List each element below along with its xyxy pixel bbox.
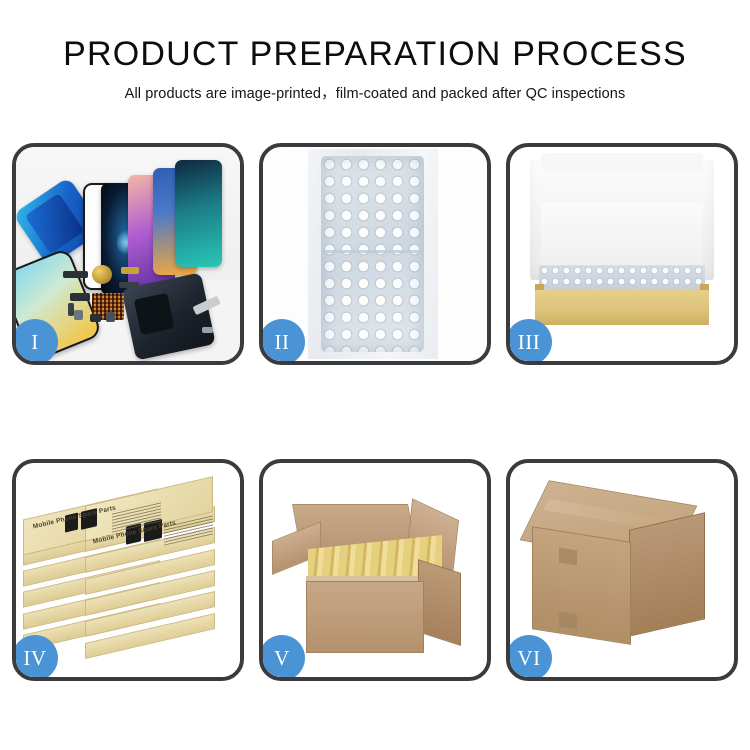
carton-seam-mark-bottom-icon (559, 611, 577, 629)
step-badge-3: III (506, 319, 552, 365)
step-badge-2: II (259, 319, 305, 365)
step-badge-5: V (259, 635, 305, 681)
step-badge-6: VI (506, 635, 552, 681)
bag-seam-icon (321, 250, 424, 253)
camera-module-icon (90, 314, 101, 323)
step-panel-1[interactable]: I (12, 143, 244, 365)
step-panel-4[interactable]: Mobile Phone Spare Parts Mobile Phone Sp… (12, 459, 244, 681)
mailer-front-panel-icon (535, 290, 710, 324)
carton-seam-mark-top-icon (559, 547, 577, 565)
page-subtitle: All products are image-printed，film-coat… (0, 85, 750, 103)
steps-grid: I II (12, 143, 738, 683)
screw-set-icon (202, 327, 213, 333)
bracket-part-icon (70, 293, 90, 302)
button-part-icon (68, 303, 75, 316)
step-panel-6[interactable]: VI (506, 459, 738, 681)
product-preparation-process-page: PRODUCT PREPARATION PROCESS All products… (0, 0, 750, 750)
header: PRODUCT PREPARATION PROCESS All products… (0, 34, 750, 103)
bubble-wrap-icon (321, 156, 424, 353)
gold-connector-icon (121, 267, 139, 274)
phone-teal-screen-icon (175, 160, 222, 267)
carton-front-face-icon (306, 581, 425, 654)
flex-cable-icon (63, 271, 88, 277)
step-panel-2[interactable]: II (259, 143, 491, 365)
sim-tray-icon (74, 310, 83, 321)
carton-front-face-icon (532, 526, 631, 644)
step-panel-3[interactable]: III (506, 143, 738, 365)
step-badge-4: IV (12, 635, 58, 681)
vibrator-motor-icon (106, 312, 115, 323)
page-title: PRODUCT PREPARATION PROCESS (0, 34, 750, 74)
carton-right-face-icon (629, 512, 705, 637)
ribbon-cable-icon (119, 282, 139, 288)
step-panel-5[interactable]: V (259, 459, 491, 681)
step-badge-1: I (12, 319, 58, 365)
